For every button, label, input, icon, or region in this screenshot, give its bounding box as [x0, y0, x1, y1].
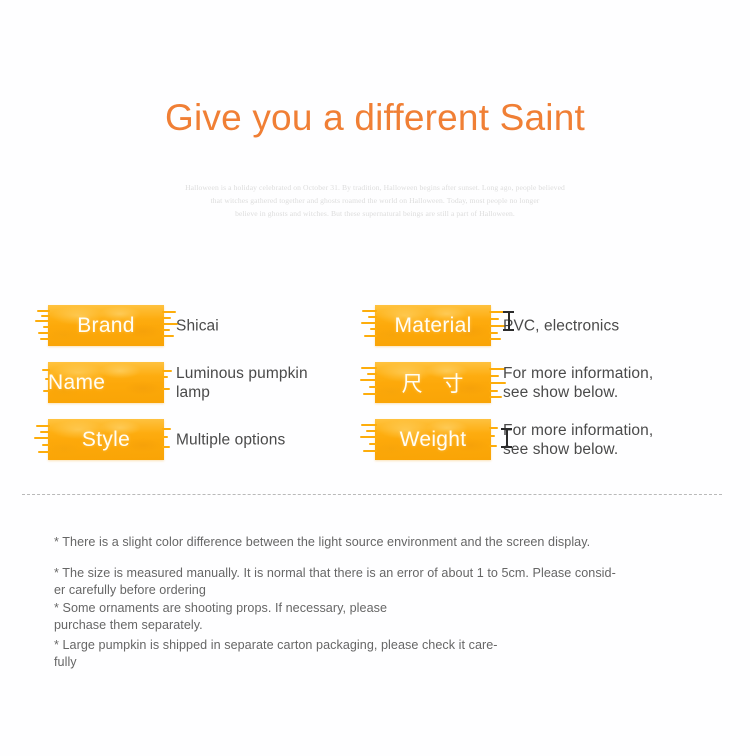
spec-value-line: For more information,	[503, 364, 703, 383]
spec-badge-weight: Weight	[375, 419, 491, 460]
spec-badge-label: 尺 寸	[375, 362, 491, 403]
section-divider	[22, 494, 722, 495]
hero-description-line: believe in ghosts and witches. But these…	[150, 208, 600, 221]
spec-value-line: see show below.	[503, 383, 703, 402]
spec-badge-material: Material	[375, 305, 491, 346]
note-line: er carefully before ordering	[54, 582, 694, 599]
hero-description: Halloween is a holiday celebrated on Oct…	[150, 182, 600, 220]
spec-value-brand: Shicai	[176, 316, 376, 335]
spec-row-style: Style Multiple options	[48, 419, 378, 461]
note-line: * Some ornaments are shooting props. If …	[54, 600, 694, 617]
note-line: * The size is measured manually. It is n…	[54, 565, 694, 582]
spec-badge-label: Weight	[375, 419, 491, 460]
spec-value-size: For more information, see show below.	[503, 364, 703, 402]
note-item: * There is a slight color difference bet…	[54, 534, 694, 551]
spec-value-style: Multiple options	[176, 430, 376, 449]
note-line: fully	[54, 654, 694, 671]
spec-value-line: PVC, electronics	[503, 316, 703, 335]
spec-row-weight: Weight For more information, see show be…	[375, 419, 705, 461]
spec-badge-label: Name	[48, 362, 164, 403]
spec-value-line: Shicai	[176, 316, 376, 335]
spec-value-name: Luminous pumpkin lamp	[176, 364, 376, 402]
spec-value-line: Luminous pumpkin	[176, 364, 376, 383]
spec-value-weight: For more information, see show below.	[503, 421, 703, 459]
note-item: * Some ornaments are shooting props. If …	[54, 600, 694, 633]
spec-row-brand: Brand Shicai	[48, 305, 378, 347]
spec-value-line: Multiple options	[176, 430, 376, 449]
hero-description-line: that witches gathered together and ghost…	[150, 195, 600, 208]
spec-badge-label: Style	[48, 419, 164, 460]
spec-value-line: lamp	[176, 383, 376, 402]
spec-badge-style: Style	[48, 419, 164, 460]
spec-grid: Brand Shicai Name	[0, 300, 750, 470]
note-item: * The size is measured manually. It is n…	[54, 565, 694, 598]
spec-badge-brand: Brand	[48, 305, 164, 346]
spec-value-line: For more information,	[503, 421, 703, 440]
spec-value-material: PVC, electronics	[503, 316, 703, 335]
spec-row-material: Material PVC, electronics	[375, 305, 705, 347]
spec-badge-size: 尺 寸	[375, 362, 491, 403]
page-title: Give you a different Saint	[0, 98, 750, 139]
note-line: * There is a slight color difference bet…	[54, 534, 694, 551]
spec-badge-label: Material	[375, 305, 491, 346]
hero-description-line: Halloween is a holiday celebrated on Oct…	[150, 182, 600, 195]
spec-row-size: 尺 寸 For more information, see show below…	[375, 362, 705, 404]
spec-row-name: Name Luminous pumpkin lamp	[48, 362, 378, 404]
note-item: * Large pumpkin is shipped in separate c…	[54, 637, 694, 670]
spec-badge-label: Brand	[48, 305, 164, 346]
note-line: * Large pumpkin is shipped in separate c…	[54, 637, 694, 654]
spec-value-line: see show below.	[503, 440, 703, 459]
note-line: purchase them separately.	[54, 617, 694, 634]
spec-badge-name: Name	[48, 362, 164, 403]
